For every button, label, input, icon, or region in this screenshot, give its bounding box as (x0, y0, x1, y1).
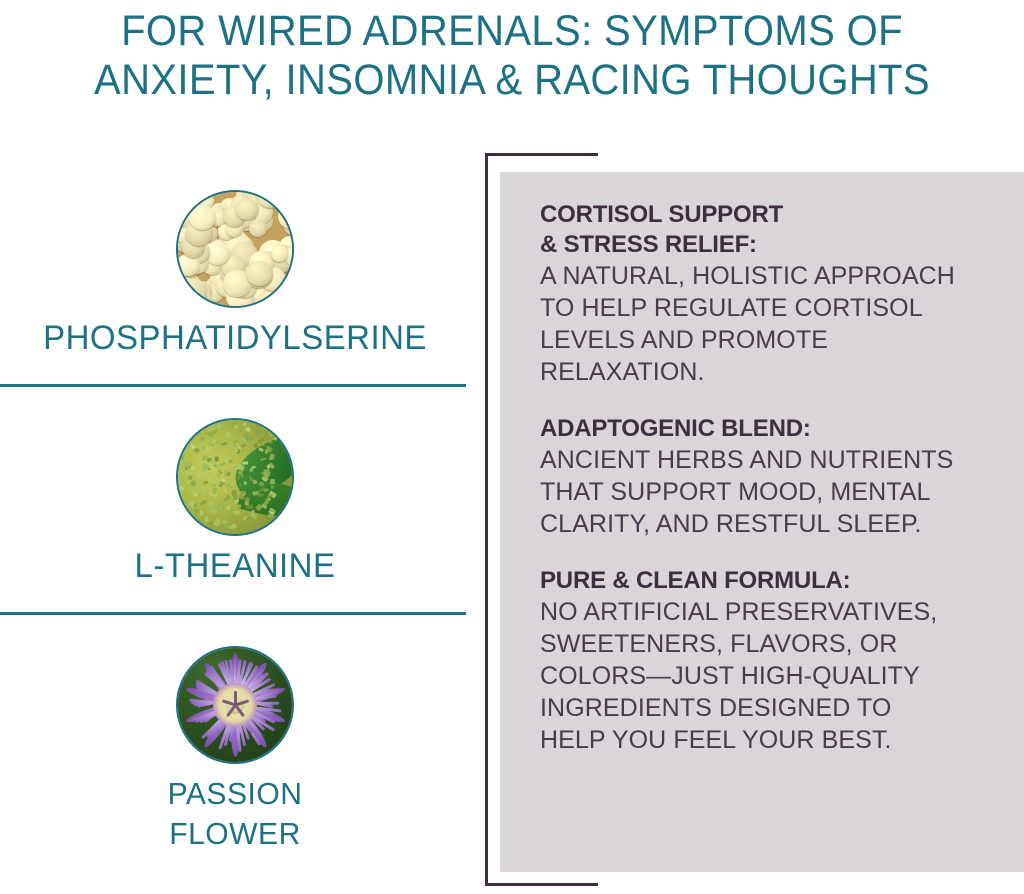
benefit-body: NO ARTIFICIAL PRESERVATIVES, SWEETENERS,… (540, 596, 1024, 756)
ingredient-label: L-THEANINE (7, 546, 463, 586)
bracket-bottom-rule (485, 883, 598, 886)
ingredient-divider (0, 384, 466, 387)
passion-flower-icon (176, 646, 294, 764)
ingredient-item-l-theanine: L-THEANINE (0, 418, 470, 586)
benefit-heading: CORTISOL SUPPORT & STRESS RELIEF: (540, 200, 1024, 260)
ingredient-label: PASSION FLOWER (7, 774, 463, 854)
page-title: FOR WIRED ADRENALS: SYMPTOMS OF ANXIETY,… (36, 0, 988, 105)
ingredient-item-passion-flower: PASSION FLOWER (0, 646, 470, 854)
ingredients-column: PHOSPHATIDYLSERINE L-THEANINE PASSION FL… (0, 178, 470, 878)
bracket-top-rule (485, 153, 598, 156)
benefit-item-cortisol-support: CORTISOL SUPPORT & STRESS RELIEF: A NATU… (540, 200, 1024, 388)
ingredient-label: PHOSPHATIDYLSERINE (7, 318, 463, 358)
benefit-heading: ADAPTOGENIC BLEND: (540, 414, 1024, 444)
benefits-list: CORTISOL SUPPORT & STRESS RELIEF: A NATU… (540, 200, 1024, 756)
benefit-heading: PURE & CLEAN FORMULA: (540, 566, 1024, 596)
benefit-body: ANCIENT HERBS AND NUTRIENTS THAT SUPPORT… (540, 444, 1024, 540)
bracket-vertical-rule (485, 153, 488, 886)
benefit-body: A NATURAL, HOLISTIC APPROACH TO HELP REG… (540, 260, 1024, 388)
soybeans-icon (176, 190, 294, 308)
ingredient-item-phosphatidylserine: PHOSPHATIDYLSERINE (0, 190, 470, 358)
matcha-powder-icon (176, 418, 294, 536)
benefits-panel: CORTISOL SUPPORT & STRESS RELIEF: A NATU… (480, 145, 1024, 894)
ingredient-divider (0, 612, 466, 615)
benefit-item-adaptogenic-blend: ADAPTOGENIC BLEND: ANCIENT HERBS AND NUT… (540, 414, 1024, 540)
benefit-item-pure-clean-formula: PURE & CLEAN FORMULA: NO ARTIFICIAL PRES… (540, 566, 1024, 756)
